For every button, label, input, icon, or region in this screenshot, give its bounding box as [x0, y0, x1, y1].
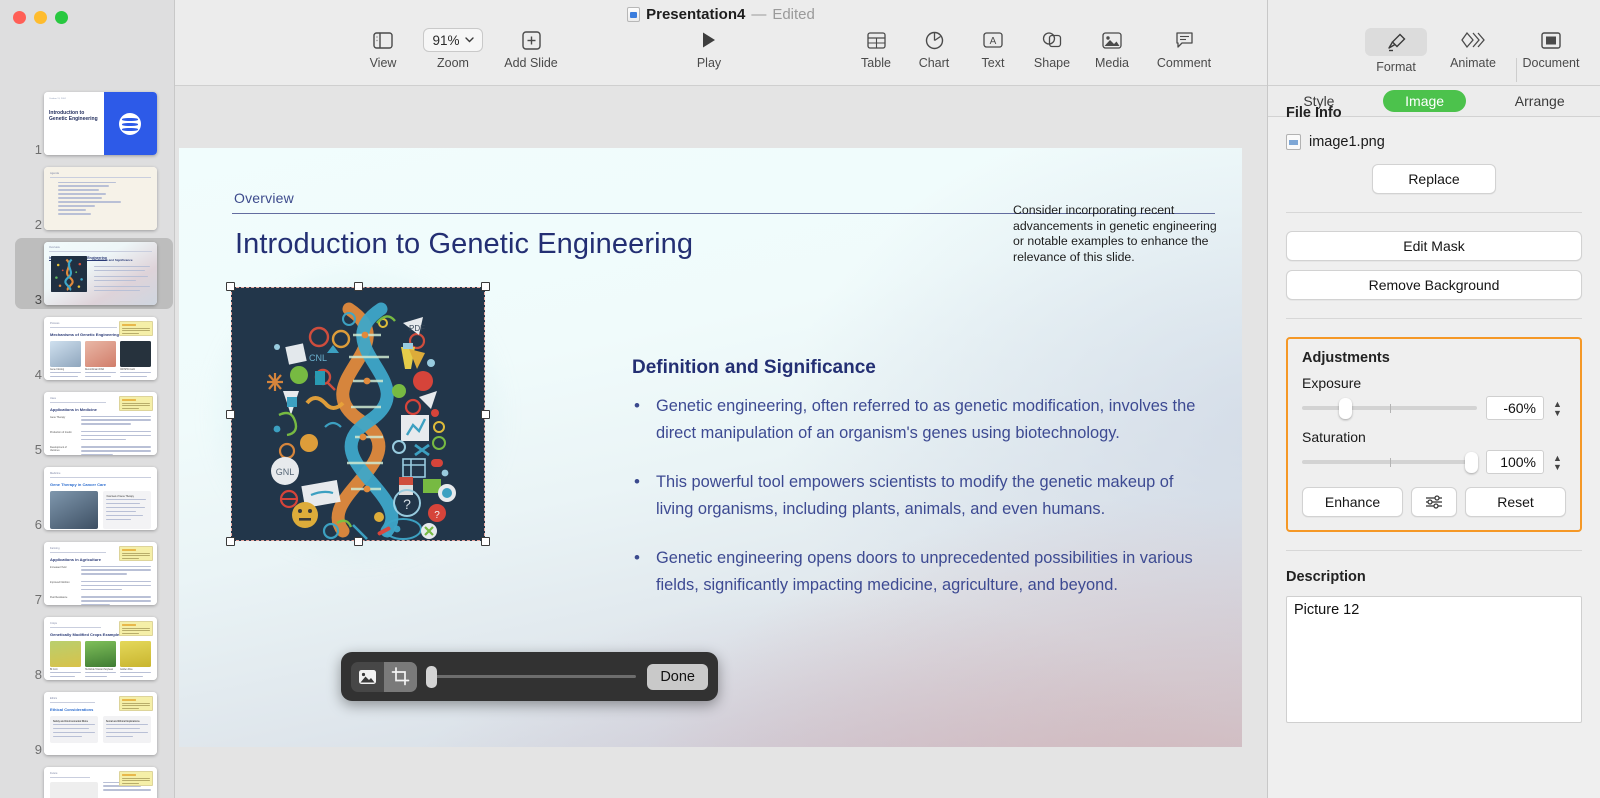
- slide-thumbnail-8[interactable]: 8 Crops Genetically Modified Crops Examp…: [0, 611, 175, 686]
- slide-number: 2: [20, 217, 42, 232]
- inspector-document-button[interactable]: Document: [1511, 28, 1591, 70]
- saturation-value-field[interactable]: 100%: [1486, 450, 1544, 474]
- file-info-row: image1.png: [1286, 134, 1582, 150]
- inspector-toolbar-items: Format Animate Document: [1268, 28, 1600, 84]
- slide-navigator[interactable]: 1 October 11, 2024 Introduction to Genet…: [0, 0, 175, 798]
- toolbar-zoom-label: Zoom: [437, 56, 469, 70]
- resize-handle-top-left[interactable]: [226, 282, 235, 291]
- animate-icon: [1461, 28, 1485, 52]
- slide-thumbnail-4[interactable]: 4 Process Mechanisms of Genetic Engineer…: [0, 311, 175, 386]
- file-info-heading: File Info: [1286, 105, 1582, 121]
- selected-image-object[interactable]: PDF CNL: [231, 287, 485, 541]
- slide-title[interactable]: Introduction to Genetic Engineering: [235, 228, 693, 261]
- thumb-body: Definition and Significance: [94, 258, 152, 294]
- bullet-marker: •: [634, 393, 640, 446]
- resize-handle-bottom-left[interactable]: [226, 537, 235, 546]
- presenter-note-badge: [119, 771, 153, 786]
- bullet-item[interactable]: • This powerful tool empowers scientists…: [634, 469, 1204, 522]
- adjustments-heading: Adjustments: [1302, 350, 1566, 366]
- format-brush-icon: [1365, 28, 1427, 56]
- saturation-row: 100% ▲ ▼: [1302, 450, 1566, 474]
- presenter-note-badge: [119, 396, 153, 411]
- slide-preview[interactable]: October 11, 2024 Introduction to Genetic…: [44, 92, 157, 155]
- toolbar-play-label: Play: [697, 56, 721, 70]
- exposure-value-field[interactable]: -60%: [1486, 396, 1544, 420]
- thumb-title: Gene Therapy in Cancer Care: [50, 482, 151, 487]
- document-title-bar: Presentation4 — Edited: [175, 6, 1267, 23]
- comment-icon: [1175, 28, 1194, 52]
- exposure-row: -60% ▲ ▼: [1302, 396, 1566, 420]
- toolbar-comment-button[interactable]: Comment: [1144, 28, 1224, 70]
- toolbar-comment-label: Comment: [1157, 56, 1211, 70]
- slide-preview[interactable]: Process Mechanisms of Genetic Engineerin…: [44, 317, 157, 380]
- presenter-note-badge: [119, 321, 153, 336]
- bullet-item[interactable]: • Genetic engineering opens doors to unp…: [634, 545, 1204, 598]
- document-name: Presentation4: [646, 6, 745, 23]
- slider-knob[interactable]: [1465, 452, 1478, 473]
- crop-done-button[interactable]: Done: [647, 664, 708, 690]
- remove-background-button[interactable]: Remove Background: [1286, 270, 1582, 300]
- slide-canvas[interactable]: Overview Introduction to Genetic Enginee…: [175, 86, 1267, 798]
- chart-pie-icon: [925, 28, 944, 52]
- slider-knob[interactable]: [1339, 398, 1352, 419]
- slide-number: 5: [20, 442, 42, 457]
- slide-thumbnail-6[interactable]: 6 Medicine Gene Therapy in Cancer Care O…: [0, 461, 175, 536]
- exposure-stepper[interactable]: ▲ ▼: [1553, 400, 1566, 417]
- resize-handle-top-center[interactable]: [354, 282, 363, 291]
- file-name-label: image1.png: [1309, 134, 1385, 150]
- toolbar-play-button[interactable]: Play: [669, 28, 749, 70]
- plus-box-icon: [522, 28, 541, 52]
- inspector-format-label: Format: [1376, 60, 1416, 74]
- inspector-content: File Info image1.png Replace Edit Mask R…: [1268, 86, 1600, 728]
- toolbar-media-label: Media: [1095, 56, 1129, 70]
- thumb-title: Introduction to Genetic Engineering: [49, 110, 99, 123]
- brand-logo-icon: [119, 113, 141, 135]
- adjustment-buttons: Enhance Reset: [1302, 487, 1566, 517]
- presenter-note-badge: [119, 696, 153, 711]
- selection-frame: [231, 287, 485, 541]
- edit-mask-button[interactable]: Edit Mask: [1286, 231, 1582, 261]
- toolbar-items: View 91% Zoom Add Slide: [175, 28, 1267, 84]
- description-textarea[interactable]: [1286, 596, 1582, 723]
- zoom-dropdown[interactable]: 91%: [423, 28, 482, 52]
- slider-center-tick: [1390, 404, 1392, 413]
- resize-handle-top-right[interactable]: [481, 282, 490, 291]
- bullet-text: This powerful tool empowers scientists t…: [656, 469, 1204, 522]
- maximize-button[interactable]: [55, 11, 68, 24]
- bullet-item[interactable]: • Genetic engineering, often referred to…: [634, 393, 1204, 446]
- slide-preview[interactable]: Overview Introduction to Genetic Enginee…: [44, 242, 157, 305]
- toolbar-chart-label: Chart: [919, 56, 950, 70]
- slide-preview[interactable]: Future: [44, 767, 157, 798]
- sliders-icon[interactable]: [1411, 487, 1457, 517]
- main-area: Presentation4 — Edited View 91% Zoom: [175, 0, 1267, 798]
- inspector-document-label: Document: [1523, 56, 1580, 70]
- inspector-animate-button[interactable]: Animate: [1433, 28, 1513, 70]
- media-icon: [1102, 28, 1122, 52]
- minimize-button[interactable]: [34, 11, 47, 24]
- stepper-up-icon[interactable]: ▲: [1553, 454, 1566, 462]
- toolbar-add-slide-label: Add Slide: [504, 56, 558, 70]
- inspector-format-button[interactable]: Format: [1356, 28, 1436, 74]
- exposure-slider[interactable]: [1302, 398, 1477, 418]
- toolbar-zoom-control[interactable]: 91% Zoom: [413, 28, 493, 70]
- inspector-toolbar: Format Animate Document: [1268, 0, 1600, 86]
- toolbar-text-label: Text: [982, 56, 1005, 70]
- slide-eyebrow[interactable]: Overview: [234, 190, 294, 206]
- bullet-marker: •: [634, 545, 640, 598]
- chevron-down-icon: [465, 37, 474, 43]
- slider-knob[interactable]: [426, 666, 437, 688]
- slide-thumbnail-5[interactable]: 5 Uses Applications in Medicine Gene The…: [0, 386, 175, 461]
- title-dash: —: [751, 6, 766, 23]
- png-file-icon: [1286, 134, 1301, 150]
- play-icon: [701, 28, 717, 52]
- thumb-image: [51, 256, 87, 292]
- slide-number: 6: [20, 517, 42, 532]
- divider: [1286, 212, 1582, 213]
- slide-thumbnail-3[interactable]: 3 Overview Introduction to Genetic Engin…: [0, 236, 175, 311]
- bullet-text: Genetic engineering, often referred to a…: [656, 393, 1204, 446]
- toolbar-view-button[interactable]: View: [343, 28, 423, 70]
- slide-subheading[interactable]: Definition and Significance: [632, 357, 876, 379]
- table-icon: [867, 28, 886, 52]
- slide-number: 1: [20, 142, 42, 157]
- slide-preview[interactable]: Crops Genetically Modified Crops Example…: [44, 617, 157, 680]
- crop-icon[interactable]: [384, 662, 417, 692]
- resize-handle-bottom-right[interactable]: [481, 537, 490, 546]
- saturation-slider[interactable]: [1302, 452, 1477, 472]
- presenter-note-badge: [119, 621, 153, 636]
- divider: [1286, 318, 1582, 319]
- stepper-up-icon[interactable]: ▲: [1553, 400, 1566, 408]
- slide-thumbnail-1[interactable]: 1 October 11, 2024 Introduction to Genet…: [0, 86, 175, 161]
- bullet-marker: •: [634, 469, 640, 522]
- stepper-down-icon[interactable]: ▼: [1553, 409, 1566, 417]
- slide-number: 9: [20, 742, 42, 757]
- reset-button[interactable]: Reset: [1465, 487, 1566, 517]
- saturation-label: Saturation: [1302, 429, 1566, 445]
- resize-handle-middle-left[interactable]: [226, 410, 235, 419]
- slider-track: [434, 675, 636, 678]
- slide-preview[interactable]: Uses Applications in Medicine Gene Thera…: [44, 392, 157, 455]
- divider: [1286, 550, 1582, 551]
- thumb-eyebrow: Medicine: [50, 472, 151, 475]
- slide-number: 8: [20, 667, 42, 682]
- zoom-value: 91%: [432, 33, 459, 48]
- thumb-date: October 11, 2024: [49, 98, 99, 100]
- document-icon: [1541, 28, 1561, 52]
- bullet-text: Genetic engineering opens doors to unpre…: [656, 545, 1204, 598]
- slide-bullet-list[interactable]: • Genetic engineering, often referred to…: [634, 393, 1204, 621]
- stepper-down-icon[interactable]: ▼: [1553, 463, 1566, 471]
- slide-thumbnail-10[interactable]: 10 Future: [0, 761, 175, 798]
- thumb-subheading: Definition and Significance: [94, 258, 152, 262]
- svg-text:A: A: [990, 36, 997, 47]
- inspector-animate-label: Animate: [1450, 56, 1496, 70]
- shape-icon: [1042, 28, 1062, 52]
- crop-mode-segmented-control[interactable]: [351, 662, 417, 692]
- text-box-icon: A: [983, 28, 1003, 52]
- picture-icon[interactable]: [351, 662, 384, 692]
- resize-handle-middle-right[interactable]: [481, 410, 490, 419]
- image-crop-toolbar[interactable]: Done: [341, 652, 718, 701]
- toolbar-add-slide-button[interactable]: Add Slide: [491, 28, 571, 70]
- thumb-eyebrow: Agenda: [50, 172, 151, 175]
- crop-zoom-slider[interactable]: [426, 662, 638, 692]
- description-heading: Description: [1286, 569, 1582, 585]
- slide-preview[interactable]: Medicine Gene Therapy in Cancer Care Ove…: [44, 467, 157, 530]
- toolbar-view-label: View: [370, 56, 397, 70]
- slide-thumbnail-9[interactable]: 9 Ethics Ethical Considerations Safety a…: [0, 686, 175, 761]
- toolbar-table-label: Table: [861, 56, 891, 70]
- slide-number: 3: [20, 292, 42, 307]
- slide-thumbnail-list[interactable]: 1 October 11, 2024 Introduction to Genet…: [0, 86, 175, 798]
- slide-thumbnail-7[interactable]: 7 Farming Applications in Agriculture In…: [0, 536, 175, 611]
- close-button[interactable]: [13, 11, 26, 24]
- sidebar-icon: [373, 28, 393, 52]
- presenter-note-badge: [119, 546, 153, 561]
- format-inspector[interactable]: Format Animate Document Style: [1267, 0, 1600, 798]
- slide-suggestion-note[interactable]: Consider incorporating recent advancemen…: [1013, 203, 1223, 266]
- saturation-stepper[interactable]: ▲ ▼: [1553, 454, 1566, 471]
- slide-preview[interactable]: Ethics Ethical Considerations Safety and…: [44, 692, 157, 755]
- thumb-eyebrow: Overview: [49, 246, 152, 249]
- enhance-button[interactable]: Enhance: [1302, 487, 1403, 517]
- slide-thumbnail-2[interactable]: 2 Agenda: [0, 161, 175, 236]
- adjustments-section: Adjustments Exposure -60% ▲ ▼ Saturation: [1286, 337, 1582, 532]
- toolbar-media-button[interactable]: Media: [1072, 28, 1152, 70]
- edited-status: Edited: [772, 6, 815, 23]
- slide-number: 7: [20, 592, 42, 607]
- window-traffic-lights[interactable]: [13, 11, 68, 24]
- slider-center-tick: [1390, 458, 1392, 467]
- keynote-window: 1 October 11, 2024 Introduction to Genet…: [0, 0, 1600, 798]
- resize-handle-bottom-center[interactable]: [354, 537, 363, 546]
- toolbar: Presentation4 — Edited View 91% Zoom: [175, 0, 1267, 86]
- keynote-document-icon: [627, 7, 640, 22]
- slide-preview[interactable]: Agenda: [44, 167, 157, 230]
- slide-number: 4: [20, 367, 42, 382]
- slide-preview[interactable]: Farming Applications in Agriculture Incr…: [44, 542, 157, 605]
- replace-button[interactable]: Replace: [1372, 164, 1496, 194]
- exposure-label: Exposure: [1302, 375, 1566, 391]
- toolbar-shape-label: Shape: [1034, 56, 1070, 70]
